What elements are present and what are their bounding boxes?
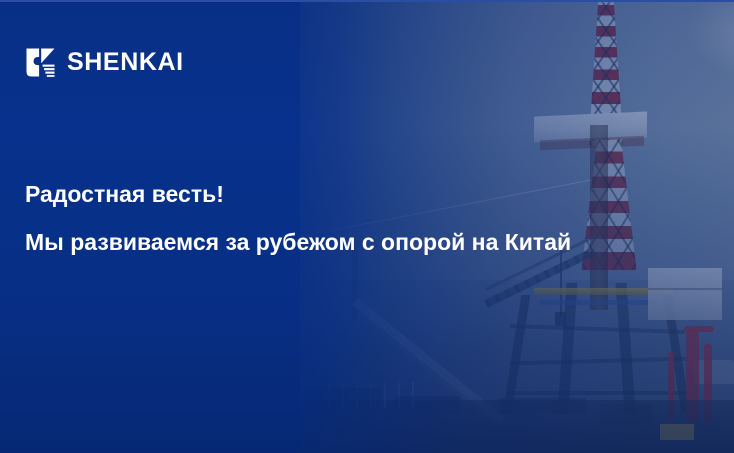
shenkai-logo-mark xyxy=(23,45,58,80)
headline-line-2: Мы развиваемся за рубежом с опорой на Ки… xyxy=(25,228,725,257)
headline-line-1: Радостная весть! xyxy=(25,180,725,209)
top-edge-line xyxy=(0,0,734,2)
promo-banner: SHENKAI Радостная весть! Мы развиваемся … xyxy=(0,0,734,453)
headline-block: Радостная весть! Мы развиваемся за рубеж… xyxy=(25,180,725,257)
brand-wordmark: SHENKAI xyxy=(67,50,184,75)
brand-logo[interactable]: SHENKAI xyxy=(23,45,184,80)
